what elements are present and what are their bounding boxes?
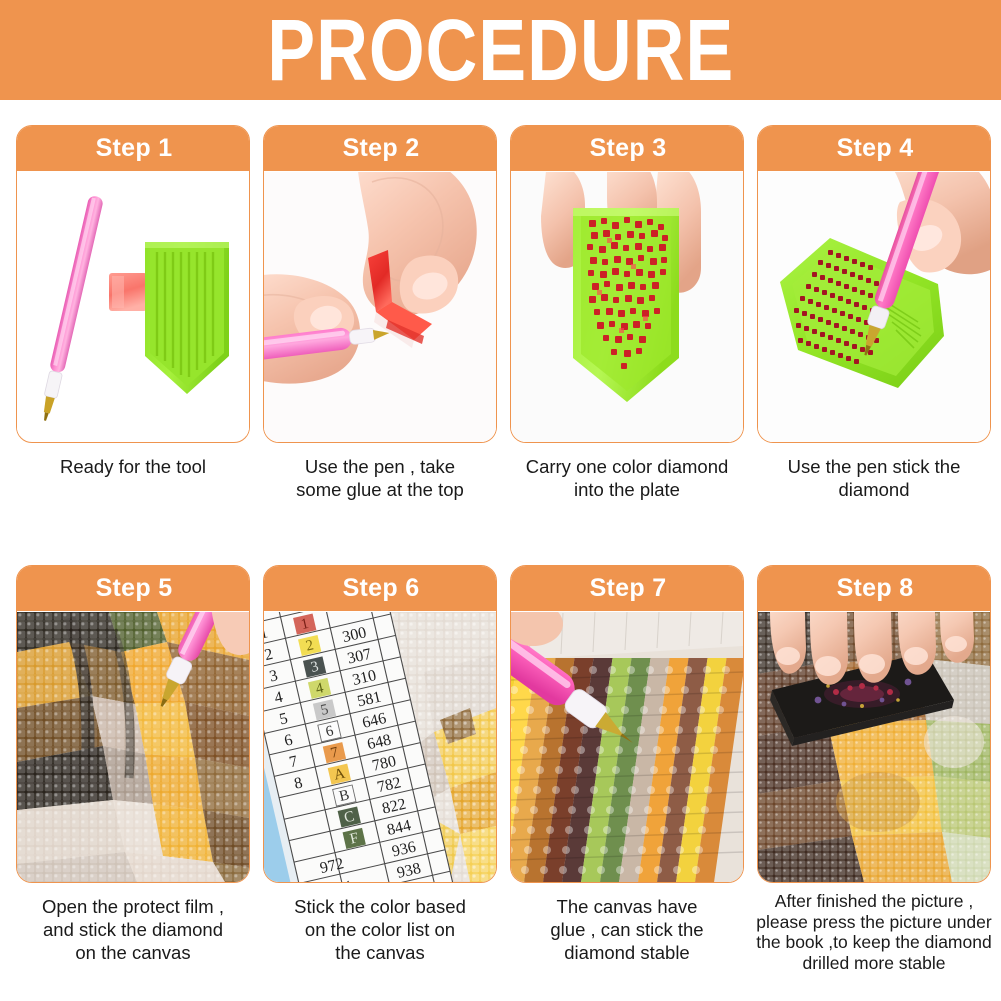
step-card-6[interactable]: Step 6 xyxy=(263,565,497,883)
step-card-1[interactable]: Step 1 xyxy=(16,125,250,443)
page-title: PROCEDURE xyxy=(267,6,734,93)
step-card-7[interactable]: Step 7 xyxy=(510,565,744,883)
step-cell-2: Step 2 xyxy=(263,125,497,555)
step-card-5[interactable]: Step 5 xyxy=(16,565,250,883)
steps-grid: Step 1 xyxy=(0,100,1001,1001)
step-label-1: Step 1 xyxy=(96,134,173,163)
step-cell-4: Step 4 xyxy=(757,125,991,555)
procedure-infographic: PROCEDURE Step 1 xyxy=(0,0,1001,1001)
step-card-3[interactable]: Step 3 xyxy=(510,125,744,443)
step-caption-3: Carry one color diamond into the plate xyxy=(502,455,752,501)
step-cell-7: Step 7 xyxy=(510,565,744,995)
step-header-2: Step 2 xyxy=(263,125,497,171)
step-label-4: Step 4 xyxy=(837,134,914,163)
step-caption-2: Use the pen , take some glue at the top xyxy=(255,455,505,501)
step-header-7: Step 7 xyxy=(510,565,744,611)
step-caption-5: Open the protect film , and stick the di… xyxy=(8,895,258,964)
step-cell-5: Step 5 xyxy=(16,565,250,995)
diamonds-in-tray-photo xyxy=(511,172,743,442)
step-caption-6: Stick the color based on the color list … xyxy=(255,895,505,964)
step-header-6: Step 6 xyxy=(263,565,497,611)
step-label-7: Step 7 xyxy=(590,574,667,603)
page-header: PROCEDURE xyxy=(0,0,1001,100)
step-label-8: Step 8 xyxy=(837,574,914,603)
step-card-2[interactable]: Step 2 xyxy=(263,125,497,443)
step-label-5: Step 5 xyxy=(96,574,173,603)
step-caption-4: Use the pen stick the diamond xyxy=(749,455,999,501)
step-label-6: Step 6 xyxy=(343,574,420,603)
steps-row-top: Step 1 xyxy=(0,125,1001,555)
step-header-3: Step 3 xyxy=(510,125,744,171)
step-label-2: Step 2 xyxy=(343,134,420,163)
step-header-5: Step 5 xyxy=(16,565,250,611)
step-label-3: Step 3 xyxy=(590,134,667,163)
step-header-4: Step 4 xyxy=(757,125,991,171)
step-caption-8: After finished the picture , please pres… xyxy=(749,891,999,974)
step-caption-1: Ready for the tool xyxy=(8,455,258,478)
steps-row-bottom: Step 5 xyxy=(0,565,1001,995)
tool-kit-photo xyxy=(17,178,249,436)
step-cell-1: Step 1 xyxy=(16,125,250,555)
step-cell-3: Step 3 xyxy=(510,125,744,555)
step-cell-8: Step 8 xyxy=(757,565,991,995)
step-header-1: Step 1 xyxy=(16,125,250,171)
pen-glue-photo xyxy=(264,172,496,442)
step-card-4[interactable]: Step 4 xyxy=(757,125,991,443)
step-header-8: Step 8 xyxy=(757,565,991,611)
press-with-book-photo xyxy=(758,612,990,882)
round-diamonds-photo xyxy=(511,612,743,882)
canvas-sticking-photo xyxy=(17,612,249,882)
pen-picks-diamond-photo xyxy=(758,172,990,442)
step-cell-6: Step 6 xyxy=(263,565,497,995)
color-chart-photo: Symbol Symbol DMC 123 456 78 xyxy=(264,612,496,882)
step-card-8[interactable]: Step 8 xyxy=(757,565,991,883)
step-caption-7: The canvas have glue , can stick the dia… xyxy=(502,895,752,964)
